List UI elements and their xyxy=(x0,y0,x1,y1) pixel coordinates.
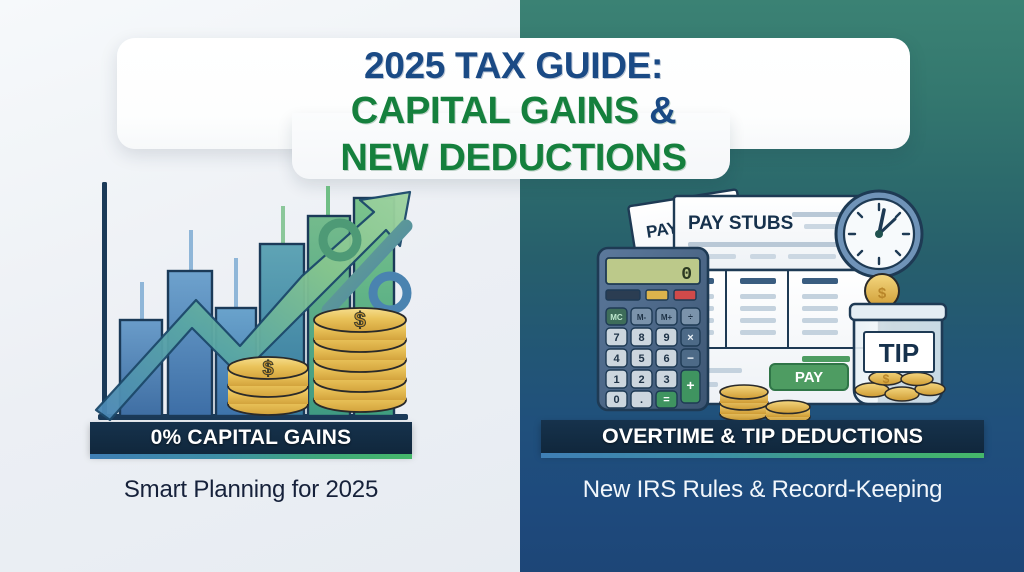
page-title: 2025 TAX GUIDE: CAPITAL GAINS & NEW DEDU… xyxy=(117,44,910,179)
bar-chart-svg: $ $ xyxy=(88,178,418,430)
paystub-front-label: PAY STUBS xyxy=(688,213,793,234)
calculator-display-value: 0 xyxy=(681,265,692,285)
svg-text:2: 2 xyxy=(638,374,644,386)
right-subtitle: New IRS Rules & Record-Keeping xyxy=(541,476,984,504)
overtime-tip-illustration: PAY PAY STUBS xyxy=(592,186,982,426)
title-ampersand: & xyxy=(649,90,676,132)
svg-text:3: 3 xyxy=(663,374,669,386)
right-banner: OVERTIME & TIP DEDUCTIONS xyxy=(541,420,984,453)
svg-text:$: $ xyxy=(883,372,890,386)
svg-text:4: 4 xyxy=(613,353,620,365)
pay-button-label: PAY xyxy=(795,369,823,386)
coin-dollar-sign-tall: $ xyxy=(354,309,366,332)
svg-text:8: 8 xyxy=(638,332,644,344)
title-line-2-text: CAPITAL GAINS xyxy=(351,90,649,132)
svg-text:M-: M- xyxy=(637,313,647,322)
svg-text:5: 5 xyxy=(638,353,644,365)
calculator: 0 MC M- M+ ÷ 7 xyxy=(598,248,708,410)
left-banner-label: 0% CAPITAL GAINS xyxy=(151,426,352,450)
svg-text:7: 7 xyxy=(613,332,619,344)
tip-jar: $ $ TIP xyxy=(850,274,946,404)
overtime-tip-svg: PAY PAY STUBS xyxy=(592,186,982,426)
svg-text:−: − xyxy=(687,351,694,365)
svg-text:6: 6 xyxy=(663,353,669,365)
left-banner: 0% CAPITAL GAINS xyxy=(90,422,412,454)
clock-icon xyxy=(836,191,922,277)
svg-text:0: 0 xyxy=(613,394,619,406)
svg-text:.: . xyxy=(640,394,643,406)
coin-stack-tall: $ xyxy=(314,308,406,412)
tip-jar-label: TIP xyxy=(879,338,919,368)
title-line-1: 2025 TAX GUIDE: xyxy=(364,47,663,84)
svg-text:$: $ xyxy=(878,285,887,302)
svg-text:÷: ÷ xyxy=(688,312,693,322)
right-banner-underline xyxy=(541,453,984,458)
left-subtitle: Smart Planning for 2025 xyxy=(90,476,412,504)
title-line-3: NEW DEDUCTIONS xyxy=(340,139,686,177)
right-banner-label: OVERTIME & TIP DEDUCTIONS xyxy=(602,424,923,449)
svg-text:+: + xyxy=(686,377,694,393)
svg-text:MC: MC xyxy=(610,313,623,322)
infographic-canvas: 2025 TAX GUIDE: CAPITAL GAINS & NEW DEDU… xyxy=(0,0,1024,572)
coin-stack-short: $ xyxy=(228,357,308,415)
coin-dollar-sign-short: $ xyxy=(262,358,273,380)
svg-text:9: 9 xyxy=(663,332,669,344)
svg-text:=: = xyxy=(663,394,669,406)
svg-text:M+: M+ xyxy=(661,313,673,322)
growth-bar-chart-illustration: $ $ xyxy=(88,178,418,430)
svg-text:1: 1 xyxy=(613,374,619,386)
left-banner-underline xyxy=(90,454,412,459)
title-line-2: CAPITAL GAINS & xyxy=(351,92,677,130)
svg-text:×: × xyxy=(687,332,693,344)
